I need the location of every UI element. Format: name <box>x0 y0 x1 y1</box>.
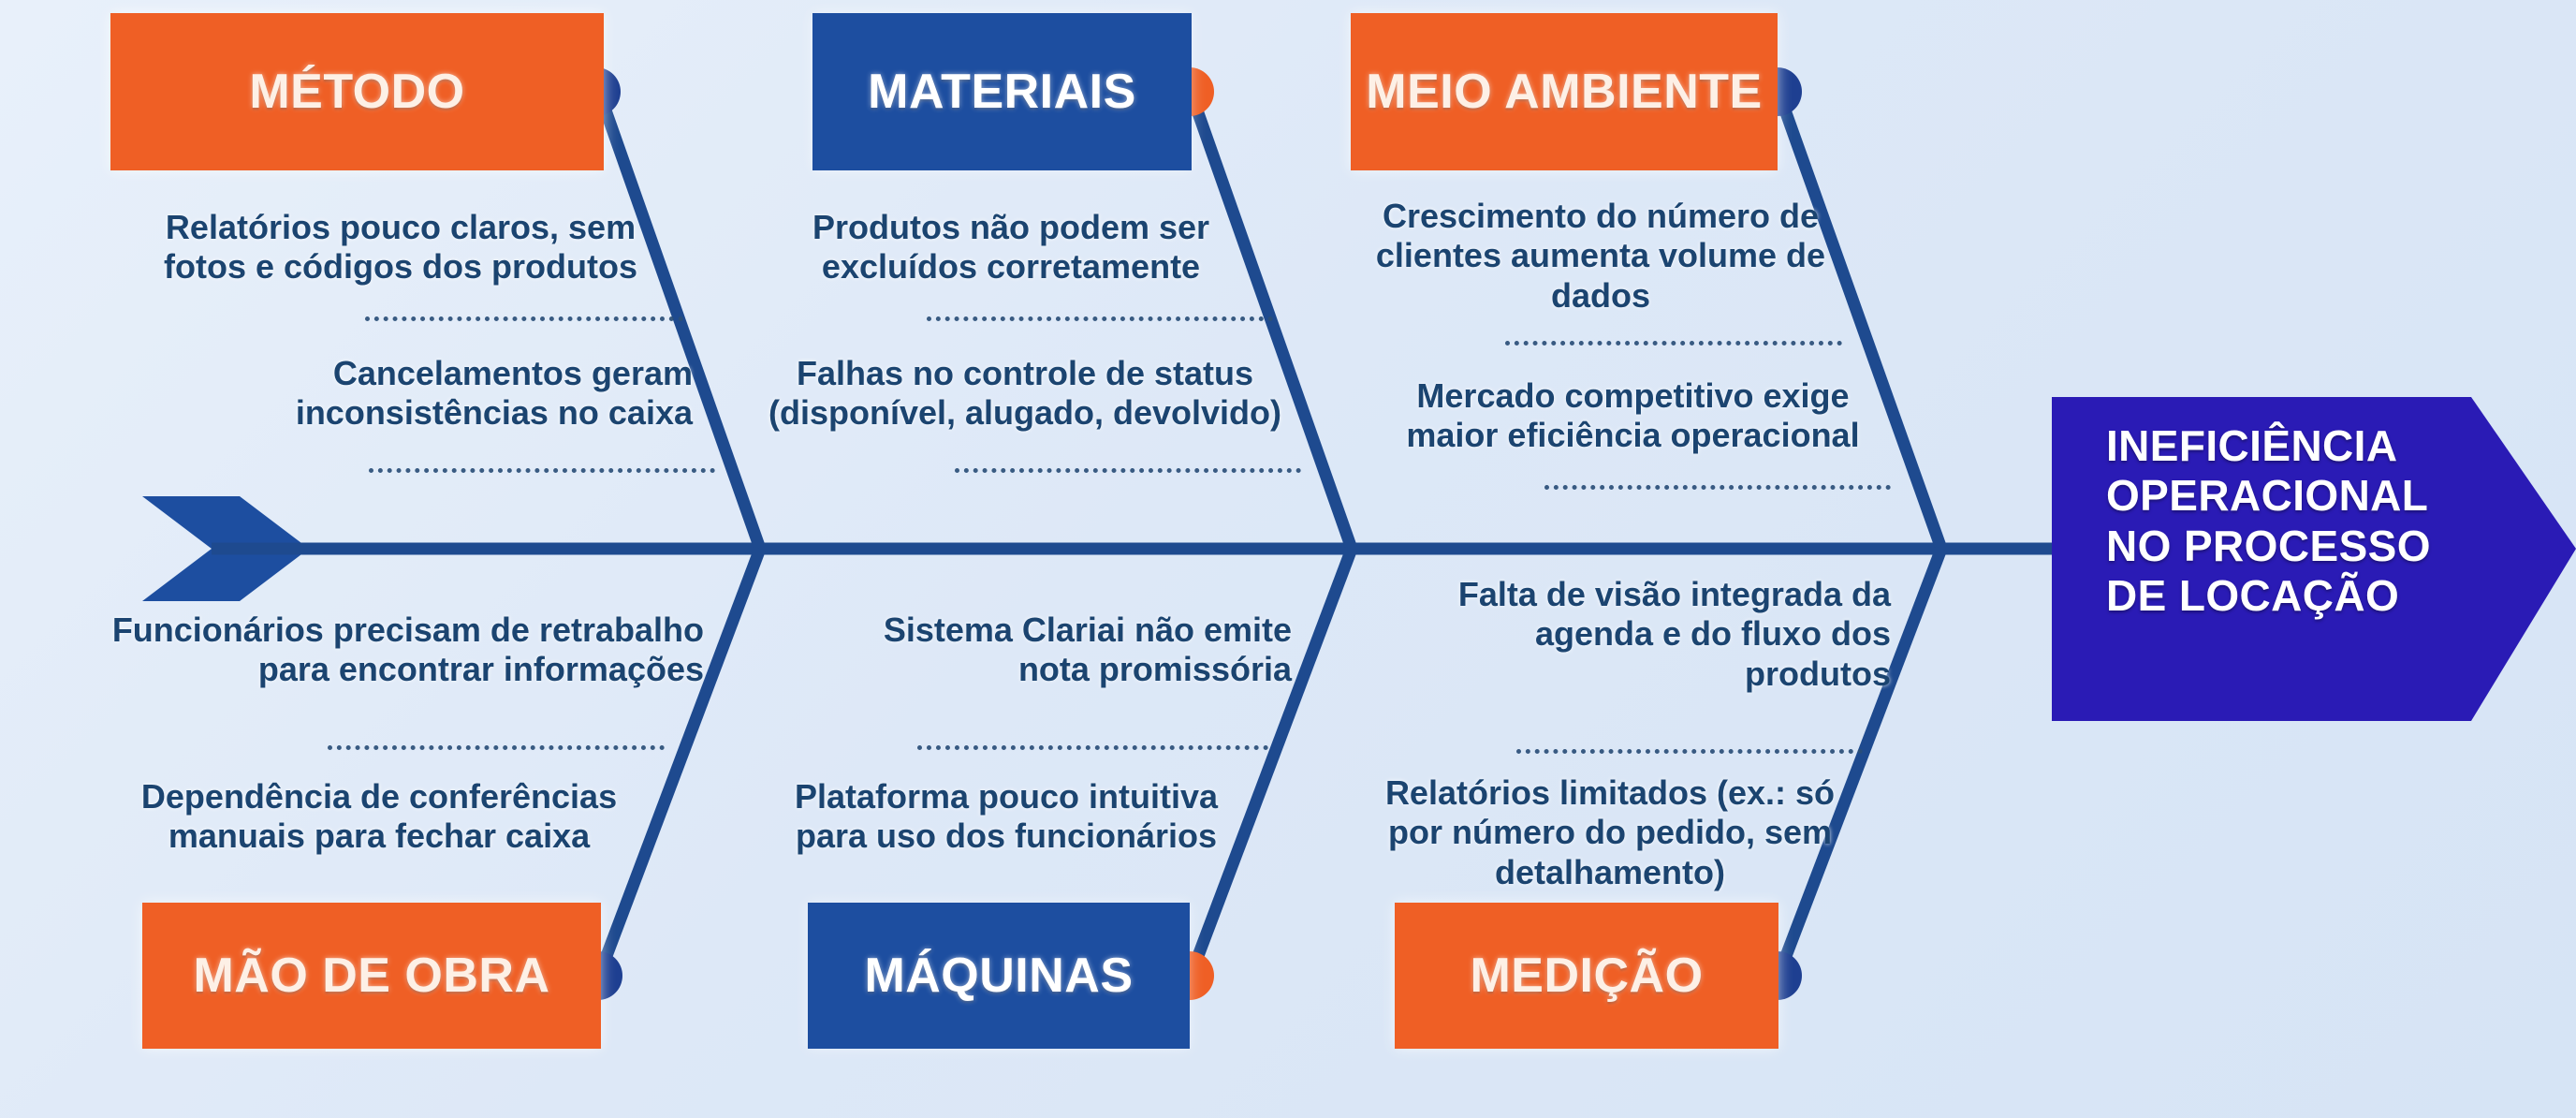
cause-materiais-2: Falhas no controle de status (disponível… <box>739 354 1310 434</box>
category-label-mao-de-obra: MÃO DE OBRA <box>193 948 549 1004</box>
cause-meio-ambiente-1: Crescimento do número de clientes aument… <box>1339 197 1863 316</box>
cause-separator-metodo-1 <box>365 316 683 321</box>
cause-separator-materiais-1 <box>927 316 1273 321</box>
cause-maquinas-1: Sistema Clariai não emite nota promissór… <box>768 610 1292 690</box>
category-label-metodo: MÉTODO <box>249 64 464 120</box>
category-label-maquinas: MÁQUINAS <box>864 948 1133 1004</box>
problem-statement-label: INEFICIÊNCIA OPERACIONAL NO PROCESSO DE … <box>2106 421 2555 621</box>
category-box-materiais[interactable]: MATERIAIS <box>812 13 1192 170</box>
cause-materiais-1: Produtos não podem ser excluídos correta… <box>749 208 1273 287</box>
cause-mao-de-obra-1: Funcionários precisam de retrabalho para… <box>56 610 704 690</box>
cause-medicao-1: Falta de visão integrada da agenda e do … <box>1348 575 1891 694</box>
category-box-meio-ambiente[interactable]: MEIO AMBIENTE <box>1351 13 1778 170</box>
cause-separator-meio-ambiente-1 <box>1505 341 1842 346</box>
category-label-medicao: MEDIÇÃO <box>1470 948 1703 1004</box>
fishbone-diagram: MÉTODO MATERIAIS MEIO AMBIENTE MÃO DE OB… <box>0 0 2576 1118</box>
cause-separator-metodo-2 <box>369 468 715 473</box>
cause-metodo-2: Cancelamentos geram inconsistências no c… <box>168 354 693 434</box>
cause-separator-medicao-1 <box>1516 749 1863 754</box>
category-box-maquinas[interactable]: MÁQUINAS <box>808 903 1190 1049</box>
category-box-medicao[interactable]: MEDIÇÃO <box>1395 903 1778 1049</box>
cause-meio-ambiente-2: Mercado competitivo exige maior eficiênc… <box>1359 376 1907 456</box>
cause-maquinas-2: Plataforma pouco intuitiva para uso dos … <box>739 777 1273 857</box>
category-box-metodo[interactable]: MÉTODO <box>110 13 604 170</box>
category-box-mao-de-obra[interactable]: MÃO DE OBRA <box>142 903 601 1049</box>
category-label-meio-ambiente: MEIO AMBIENTE <box>1366 64 1762 120</box>
category-label-materiais: MATERIAIS <box>868 64 1136 120</box>
bone-meio-ambiente <box>1778 92 1941 549</box>
cause-separator-meio-ambiente-2 <box>1544 485 1891 490</box>
cause-mao-de-obra-2: Dependência de conferências manuais para… <box>103 777 655 857</box>
cause-separator-maquinas-1 <box>917 745 1268 750</box>
cause-medicao-2: Relatórios limitados (ex.: só por número… <box>1320 773 1900 892</box>
cause-metodo-1: Relatórios pouco claros, sem fotos e cód… <box>110 208 691 287</box>
cause-separator-mao-de-obra-1 <box>328 745 665 750</box>
cause-separator-materiais-2 <box>955 468 1301 473</box>
